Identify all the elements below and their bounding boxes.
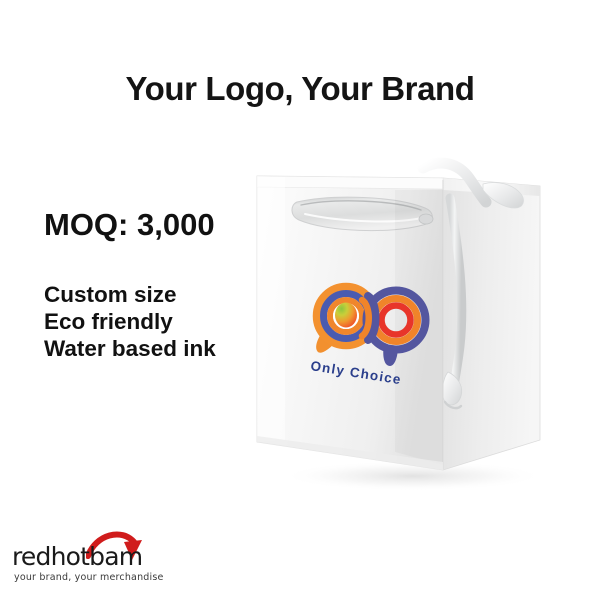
product-shopping-bag xyxy=(245,140,565,490)
moq-label: MOQ: 3,000 xyxy=(44,207,215,243)
brand-lockup[interactable]: redhotbam your brand, your merchandise xyxy=(8,528,198,590)
brand-tagline: your brand, your merchandise xyxy=(14,572,164,583)
feature-item-custom-size: Custom size xyxy=(44,281,216,308)
shopping-bag-illustration xyxy=(245,140,565,490)
feature-item-water-based-ink: Water based ink xyxy=(44,335,216,362)
brand-wordmark: redhotbam xyxy=(12,542,142,571)
bag-front-sheen xyxy=(395,190,443,465)
page-title: Your Logo, Your Brand xyxy=(0,70,600,108)
promo-image-canvas: Your Logo, Your Brand MOQ: 3,000 Custom … xyxy=(0,0,600,600)
feature-item-eco-friendly: Eco friendly xyxy=(44,308,216,335)
bag-front-highlight xyxy=(257,176,285,442)
feature-list: Custom size Eco friendly Water based ink xyxy=(44,281,216,362)
